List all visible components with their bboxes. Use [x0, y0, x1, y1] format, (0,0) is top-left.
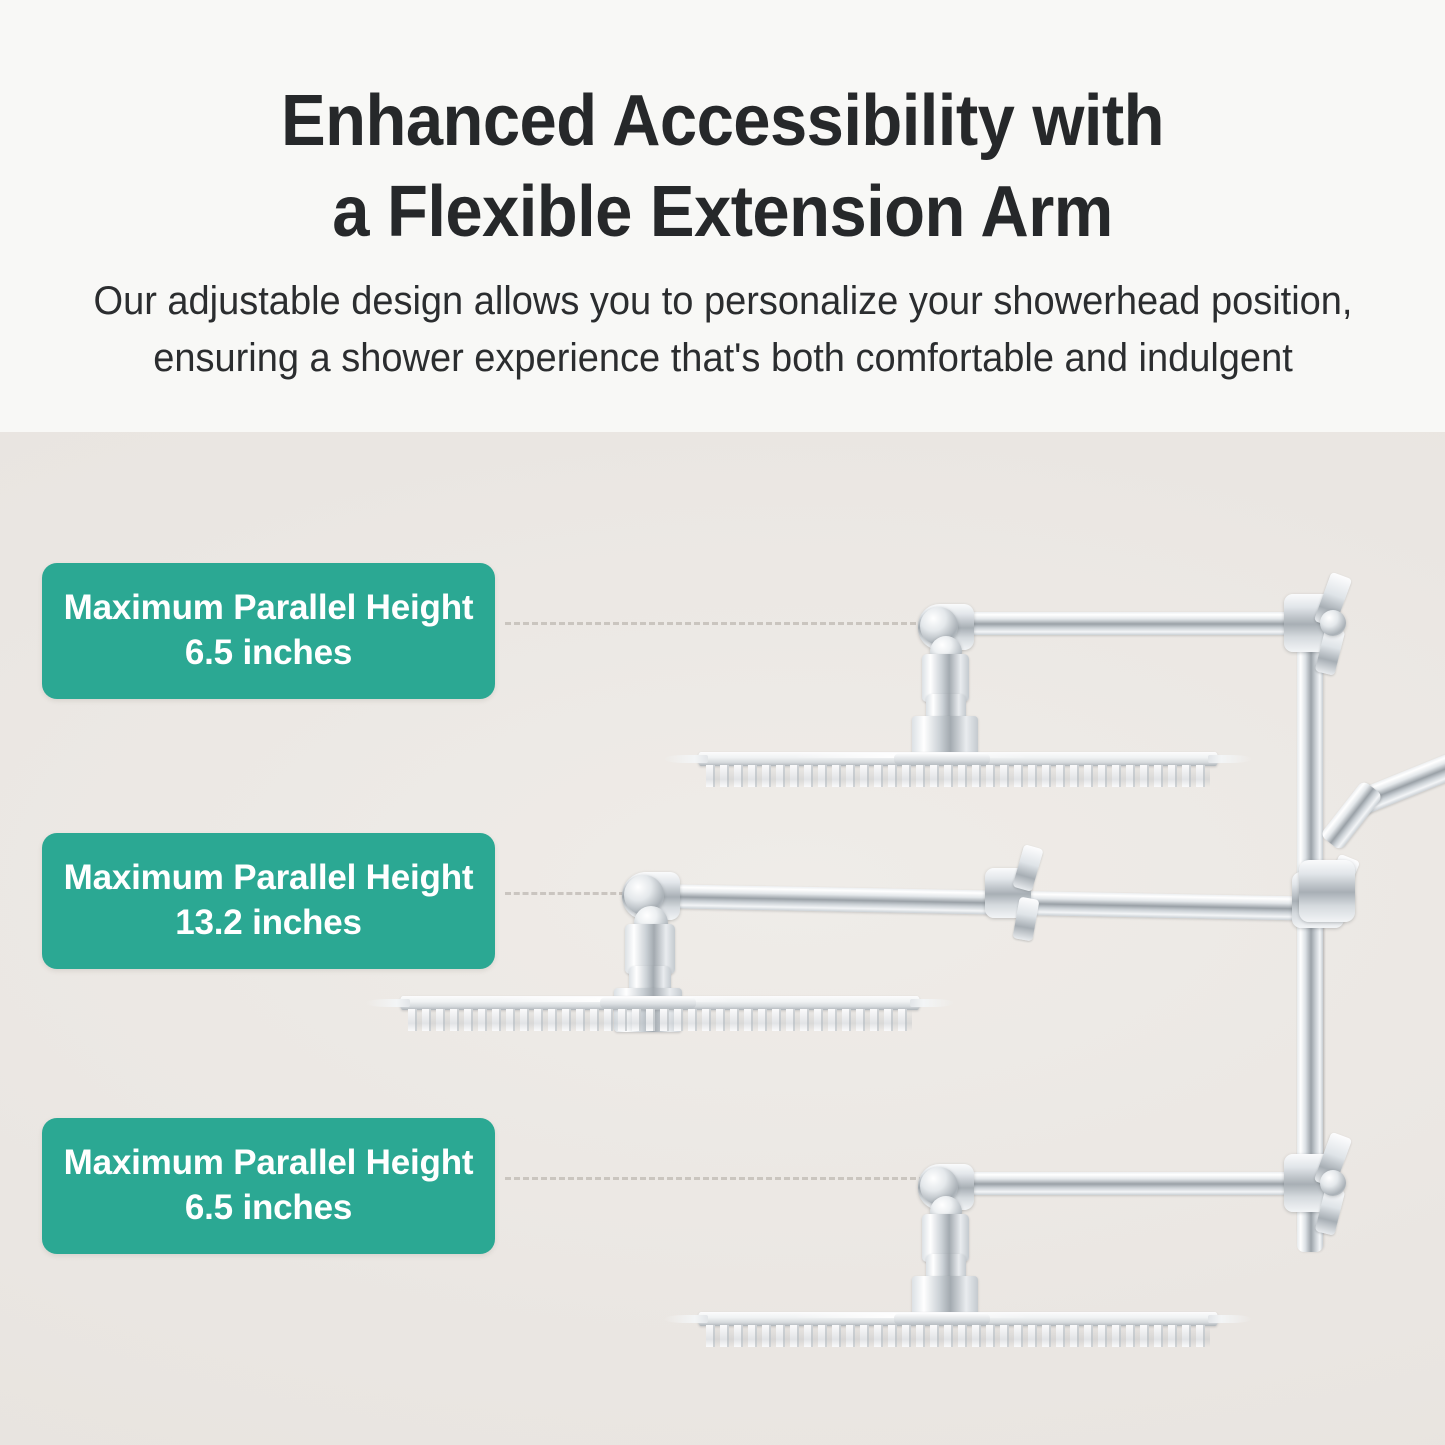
page-title: Enhanced Accessibility with a Flexible E…: [51, 76, 1395, 257]
wall-mount-elbow-bend: [1320, 780, 1384, 851]
header-band: Enhanced Accessibility with a Flexible E…: [0, 0, 1445, 432]
callout-badge-top: Maximum Parallel Height 6.5 inches: [42, 563, 495, 699]
callout-label-bottom: Maximum Parallel Height: [60, 1140, 477, 1185]
plate-hubcap-middle: [600, 997, 696, 1009]
mid-arm-wing-upper: [1012, 844, 1043, 892]
plate-hubcap-bottom: [894, 1313, 990, 1325]
showerhead-middle: [400, 996, 920, 1036]
pivot-cap-bottom-right: [1320, 1170, 1346, 1196]
showerhead-bottom: [698, 1312, 1218, 1352]
callout-label-middle: Maximum Parallel Height: [60, 855, 477, 900]
nozzle-array-bottom: [706, 1325, 1210, 1347]
pivot-cap-top-right: [1320, 610, 1346, 636]
leader-line-bottom: [505, 1177, 925, 1180]
callout-value-middle: 13.2 inches: [60, 900, 477, 945]
extension-arm-top: [960, 612, 1305, 635]
header-content: Enhanced Accessibility with a Flexible E…: [0, 0, 1445, 387]
callout-badge-bottom: Maximum Parallel Height 6.5 inches: [42, 1118, 495, 1254]
showerhead-top: [698, 752, 1218, 792]
plate-hubcap-top: [894, 753, 990, 765]
wall-mount-clamp: [1299, 860, 1355, 922]
illustration-panel: Maximum Parallel Height 6.5 inches Maxim…: [0, 432, 1445, 1445]
page-subtitle: Our adjustable design allows you to pers…: [67, 273, 1378, 387]
nozzle-array-middle: [408, 1009, 912, 1031]
nozzle-array-top: [706, 765, 1210, 787]
extension-arm-bottom: [960, 1172, 1305, 1195]
infographic-page: Enhanced Accessibility with a Flexible E…: [0, 0, 1445, 1445]
callout-value-top: 6.5 inches: [60, 630, 477, 675]
callout-value-bottom: 6.5 inches: [60, 1185, 477, 1230]
callout-badge-middle: Maximum Parallel Height 13.2 inches: [42, 833, 495, 969]
callout-label-top: Maximum Parallel Height: [60, 585, 477, 630]
leader-line-middle: [505, 892, 625, 895]
leader-line-top: [505, 622, 925, 625]
